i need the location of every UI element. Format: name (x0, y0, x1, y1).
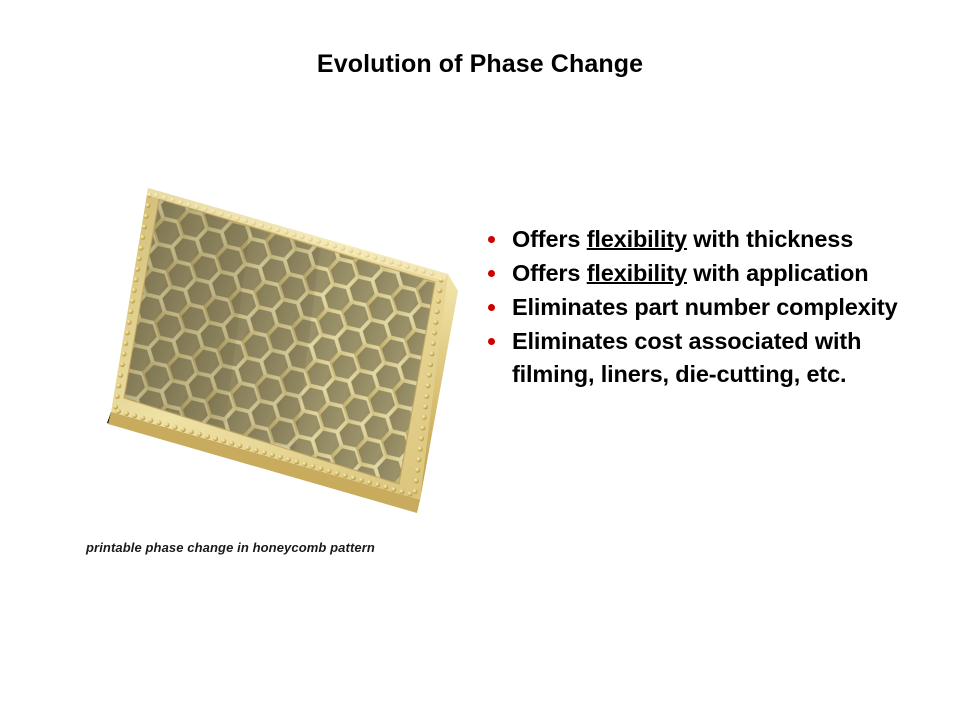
bullet-dot-icon (488, 270, 495, 277)
list-item-text: Eliminates cost associated with filming,… (512, 328, 861, 387)
list-item: Eliminates part number complexity (486, 291, 941, 324)
list-item: Eliminates cost associated with filming,… (486, 325, 941, 391)
list-item: Offers flexibility with thickness (486, 223, 941, 256)
list-item-text-before: Offers (512, 260, 587, 286)
list-item-text-before: Offers (512, 226, 587, 252)
bullet-dot-icon (488, 338, 495, 345)
honeycomb-field (60, 150, 460, 530)
list-item-text-after: with application (687, 260, 869, 286)
bullet-dot-icon (488, 304, 495, 311)
page-title: Evolution of Phase Change (0, 49, 960, 79)
plate-body (60, 150, 460, 530)
figure-caption: printable phase change in honeycomb patt… (86, 540, 426, 555)
slide-canvas: Evolution of Phase Change (0, 0, 960, 720)
list-item-text: Offers flexibility with application (512, 260, 868, 286)
honeycomb-plate-photo (60, 150, 460, 530)
honeycomb-plate-illustration (60, 150, 460, 530)
list-item-text: Offers flexibility with thickness (512, 226, 853, 252)
list-item-text-emphasis: flexibility (587, 260, 687, 286)
bullet-dot-icon (488, 236, 495, 243)
list-item-text-emphasis: flexibility (587, 226, 687, 252)
list-item: Offers flexibility with application (486, 257, 941, 290)
list-item-text-after: with thickness (687, 226, 853, 252)
list-item-text: Eliminates part number complexity (512, 294, 898, 320)
bullet-list: Offers flexibility with thickness Offers… (486, 223, 941, 392)
